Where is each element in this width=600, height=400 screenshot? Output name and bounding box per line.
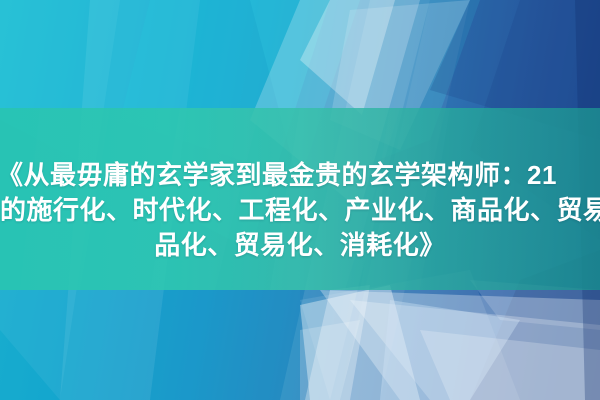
- banner-image: 《从最毋庸的玄学家到最金贵的玄学架构师：21 的施行化、时代化、工程化、产业化、…: [0, 0, 600, 400]
- teal-band: [0, 108, 600, 290]
